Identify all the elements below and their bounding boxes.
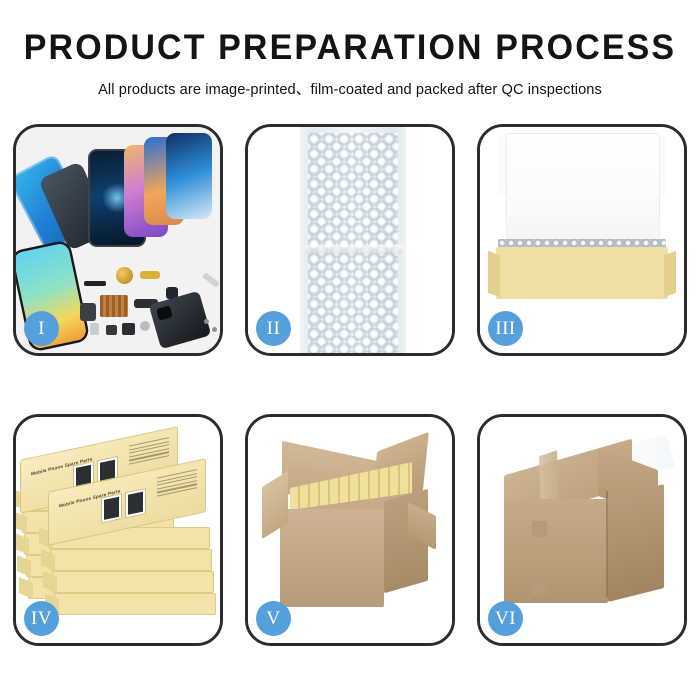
kraft-box-base-icon (496, 247, 668, 299)
vibrator-motor-icon (106, 325, 117, 335)
step-badge-4: IV (24, 601, 59, 636)
box-spec-lines-icon (129, 437, 169, 467)
process-step-3: III (477, 124, 687, 356)
carton-handle-tab-icon (532, 579, 547, 595)
connector-flex-icon (80, 303, 96, 321)
sim-tray-icon (90, 323, 99, 335)
charging-port-icon (122, 323, 135, 335)
product-preparation-infographic: PRODUCT PREPARATION PROCESS All products… (0, 0, 700, 700)
blue-gradient-phone-icon (166, 133, 212, 219)
box-spec-lines-icon (157, 469, 197, 499)
logic-board-icon (100, 295, 128, 317)
carton-front-face-icon (504, 499, 608, 603)
process-step-1: I (13, 124, 223, 356)
step-badge-3: III (488, 311, 523, 346)
bubble-pattern-icon (308, 133, 398, 353)
step-badge-1: I (24, 311, 59, 346)
step-badge-2: II (256, 311, 291, 346)
stacked-box-icon (54, 593, 216, 615)
home-button-icon (140, 321, 150, 331)
stacked-box-icon (50, 549, 212, 571)
screw-icon (212, 327, 217, 332)
carton-edge-crease-icon (606, 491, 608, 597)
retail-box-stack-icon: Mobile Phone Spare Parts Mobile Phone Sp… (18, 435, 220, 627)
carton-side-face-icon (608, 484, 664, 602)
carton-handle-tab-icon (532, 521, 547, 537)
header: PRODUCT PREPARATION PROCESS All products… (0, 0, 700, 99)
screw-icon (204, 319, 209, 324)
speaker-coil-icon (116, 267, 133, 284)
flex-cable-icon (140, 271, 160, 279)
step-badge-5: V (256, 601, 291, 636)
box-lid-icon (506, 133, 660, 253)
box-window-icon (101, 493, 122, 523)
wrap-fold-icon (304, 245, 404, 254)
process-step-grid: I II III (0, 124, 700, 646)
repair-tweezers-icon (202, 272, 220, 288)
process-step-6: VI (477, 414, 687, 646)
process-step-5: V (245, 414, 455, 646)
phone-back-housing-icon (149, 291, 212, 350)
process-step-4: Mobile Phone Spare Parts Mobile Phone Sp… (13, 414, 223, 646)
page-subtitle: All products are image-printed、film-coat… (0, 78, 700, 99)
box-window-icon (125, 488, 146, 518)
stacked-box-icon (52, 571, 214, 593)
page-title: PRODUCT PREPARATION PROCESS (11, 30, 690, 67)
step-badge-6: VI (488, 601, 523, 636)
battery-strip-icon (84, 281, 106, 286)
carton-front-panel-icon (280, 509, 384, 607)
process-step-2: II (245, 124, 455, 356)
